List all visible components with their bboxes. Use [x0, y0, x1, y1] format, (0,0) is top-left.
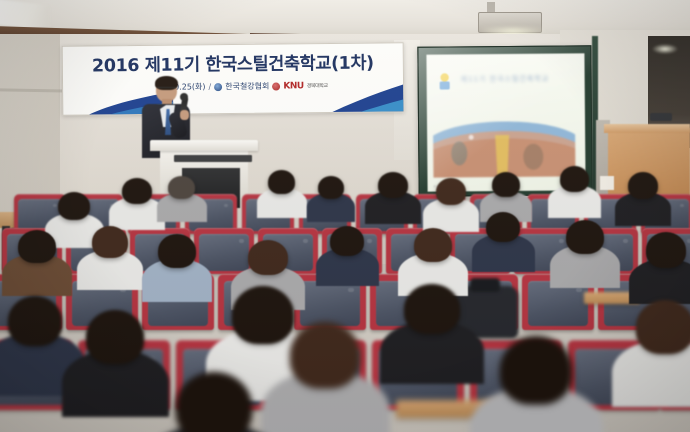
auditorium-seat[interactable] — [66, 228, 126, 274]
auditorium-seat[interactable] — [274, 340, 366, 410]
knu-logo-icon — [272, 82, 280, 90]
audience-seating — [0, 150, 690, 432]
auditorium-seat[interactable] — [450, 228, 510, 274]
banner-knu-tag: 경북대학교 — [307, 82, 328, 89]
auditorium-seat[interactable] — [2, 228, 62, 274]
seat-cushion — [376, 281, 436, 326]
seat-cushion — [455, 234, 505, 271]
backpack-strap — [470, 278, 500, 292]
folding-desk-tray — [584, 292, 640, 304]
control-desk-top — [604, 124, 690, 133]
auditorium-seat[interactable] — [660, 340, 690, 410]
seat-cushion — [474, 199, 518, 231]
seat-cushion — [477, 349, 554, 405]
seat-cushion — [531, 199, 575, 231]
seat-cushion — [645, 199, 689, 231]
auditorium-seat[interactable] — [0, 274, 62, 330]
seat-cushion — [303, 199, 347, 231]
auditorium-seat[interactable] — [258, 228, 318, 274]
auditorium-seat[interactable] — [642, 228, 690, 274]
seat-cushion — [0, 281, 56, 326]
corner-light — [652, 44, 678, 54]
auditorium-seat[interactable] — [578, 228, 638, 274]
seat-cushion — [519, 234, 569, 271]
speaker-glasses-icon — [157, 87, 176, 92]
seat-cushion — [327, 234, 377, 271]
seat-cushion — [417, 199, 461, 231]
seat-cushion — [263, 234, 313, 271]
auditorium-seat[interactable] — [130, 228, 190, 274]
event-banner: 2016 제11기 한국스틸건축학교(1차) .10.25(화) / 한국철강협… — [62, 42, 405, 116]
seat-cushion — [379, 349, 456, 405]
seat-cushion — [224, 281, 284, 326]
auditorium-seat[interactable] — [386, 228, 446, 274]
auditorium-seat[interactable] — [322, 228, 382, 274]
banner-separator: / — [208, 82, 211, 91]
seat-cushion — [71, 234, 121, 271]
seat-cushion — [199, 234, 249, 271]
auditorium-seat[interactable] — [218, 274, 290, 330]
seat-cushion — [588, 199, 632, 231]
auditorium-seat[interactable] — [66, 274, 138, 330]
auditorium-seat[interactable] — [176, 340, 268, 410]
auditorium-seat[interactable] — [294, 274, 366, 330]
speaker-hand — [180, 110, 189, 120]
slide-logo-icon — [437, 72, 453, 90]
seat-cushion — [183, 349, 260, 405]
seat-cushion — [132, 199, 176, 231]
seat-cushion — [667, 349, 690, 405]
banner-org-primary: 한국철강협회 — [225, 81, 269, 92]
auditorium-seat[interactable] — [78, 340, 170, 410]
desk-equipment — [650, 113, 672, 121]
seat-cushion — [75, 199, 119, 231]
banner-knu-word: KNU — [283, 81, 303, 91]
auditorium-seat[interactable] — [662, 274, 690, 330]
seat-cushion — [148, 281, 208, 326]
seat-cushion — [281, 349, 358, 405]
seat-cushion — [246, 199, 290, 231]
seat-cushion — [575, 349, 652, 405]
seat-cushion — [135, 234, 185, 271]
kosa-logo-icon — [214, 83, 222, 91]
folding-desk-tray — [396, 400, 526, 418]
seat-cushion — [18, 199, 62, 231]
seat-cushion — [7, 234, 57, 271]
auditorium-seat[interactable] — [568, 340, 660, 410]
seat-cushion — [391, 234, 441, 271]
seat-cushion — [85, 349, 162, 405]
seat-cushion — [189, 199, 233, 231]
seat-cushion — [647, 234, 690, 271]
auditorium-seat[interactable] — [194, 228, 254, 274]
auditorium-seat[interactable] — [514, 228, 574, 274]
seat-cushion — [528, 281, 588, 326]
seat-cushion — [0, 349, 65, 405]
microphone-head-icon — [180, 93, 188, 101]
seat-cushion — [360, 199, 404, 231]
backpack — [452, 286, 518, 338]
auditorium-seat[interactable] — [0, 340, 72, 410]
seat-cushion — [668, 281, 690, 326]
seat-cushion — [583, 234, 633, 271]
lecture-hall-photo: 2016 제11기 한국스틸건축학교(1차) .10.25(화) / 한국철강협… — [0, 0, 690, 432]
seat-cushion — [300, 281, 360, 326]
slide-title: 제11기 한국스틸건축학교 — [461, 74, 550, 85]
seat-cushion — [72, 281, 132, 326]
auditorium-seat[interactable] — [370, 274, 442, 330]
auditorium-seat[interactable] — [142, 274, 214, 330]
banner-title: 2016 제11기 한국스틸건축학교(1차) — [63, 49, 403, 78]
